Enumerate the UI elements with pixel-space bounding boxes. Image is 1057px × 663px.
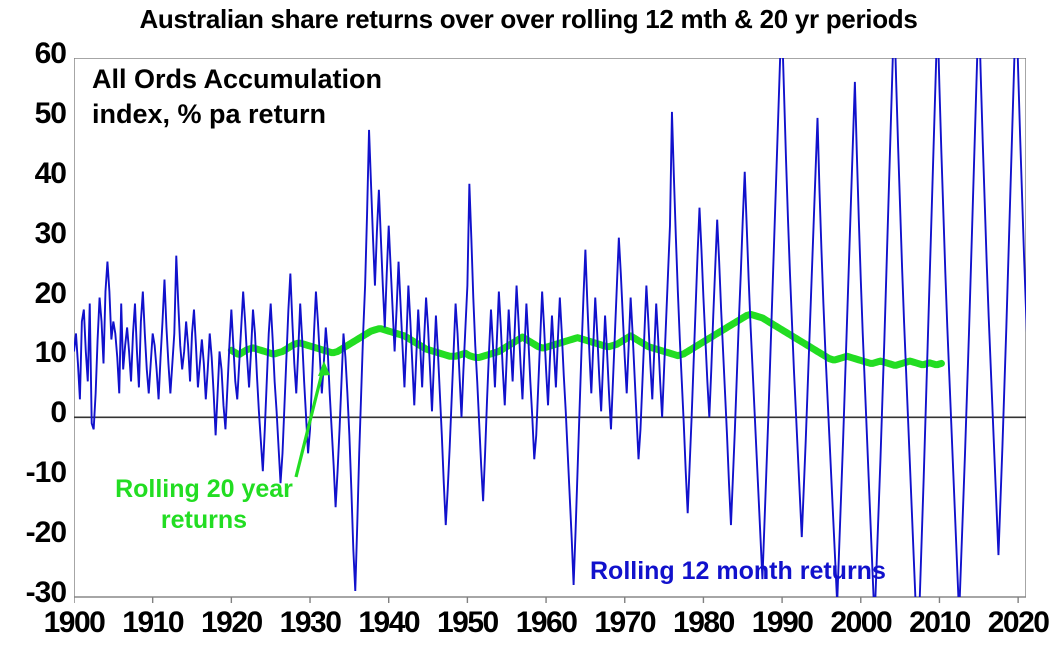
x-tick-label: 1940 <box>358 606 419 640</box>
y-axis-labels: 6050403020100-10-20-30 <box>0 0 72 663</box>
index-note-line2: index, % pa return <box>92 97 382 132</box>
chart-root: Australian share returns over over rolli… <box>0 0 1057 663</box>
x-tick-label: 2000 <box>830 606 891 640</box>
x-tick-label: 1980 <box>673 606 734 640</box>
index-note-line1: All Ords Accumulation <box>92 62 382 97</box>
page-title: Australian share returns over over rolli… <box>0 4 1057 35</box>
blue-series-label: Rolling 12 month returns <box>590 557 886 586</box>
y-tick-label: 60 <box>0 37 66 71</box>
green-label-line1: Rolling 20 year <box>88 474 320 505</box>
green-series-label: Rolling 20 year returns <box>88 474 320 535</box>
x-tick-label: 1920 <box>201 606 262 640</box>
x-tick-label: 1900 <box>44 606 105 640</box>
x-tick-label: 2020 <box>988 606 1049 640</box>
y-tick-label: 10 <box>0 336 66 370</box>
x-tick-label: 1930 <box>280 606 341 640</box>
y-tick-label: 40 <box>0 157 66 191</box>
x-tick-label: 1990 <box>752 606 813 640</box>
x-tick-label: 2010 <box>909 606 970 640</box>
x-tick-label: 1950 <box>437 606 498 640</box>
index-note: All Ords Accumulation index, % pa return <box>92 62 382 131</box>
x-tick-label: 1910 <box>122 606 183 640</box>
y-tick-label: 0 <box>0 396 66 430</box>
y-tick-label: -10 <box>0 456 66 490</box>
y-tick-label: 30 <box>0 217 66 251</box>
x-tick-label: 1970 <box>594 606 655 640</box>
x-axis-ticks <box>74 597 1018 603</box>
x-axis-labels: 1900191019201930194019501960197019801990… <box>0 606 1057 656</box>
x-tick-label: 1960 <box>516 606 577 640</box>
y-tick-label: -30 <box>0 576 66 610</box>
y-tick-label: -20 <box>0 516 66 550</box>
y-tick-label: 50 <box>0 97 66 131</box>
y-tick-label: 20 <box>0 277 66 311</box>
green-label-line2: returns <box>88 505 320 536</box>
